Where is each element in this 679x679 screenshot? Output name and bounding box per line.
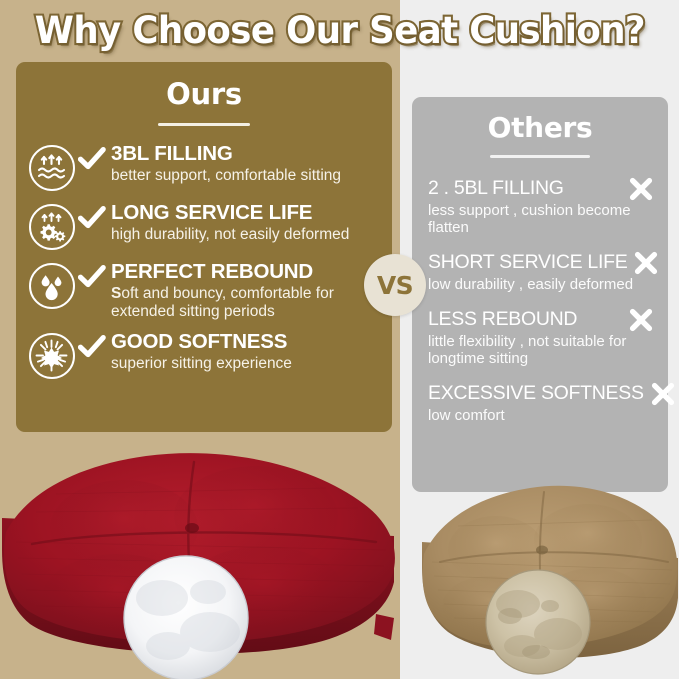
others-cushion-image [418, 470, 679, 679]
ours-cushion-image [0, 432, 406, 679]
gears-durability-icon [29, 204, 75, 250]
vs-badge: VS [364, 254, 426, 316]
ours-feature-row: 3BL FILLING better support, comfortable … [16, 143, 392, 191]
others-feature-title: SHORT SERVICE LIFE [428, 252, 627, 273]
ours-card: Ours [16, 62, 392, 432]
ours-feature-desc: superior sitting experience [111, 355, 384, 373]
others-feature-row: LESS REBOUND little flexibility , not su… [428, 307, 654, 368]
others-feature-headline: EXCESSIVE SOFTNESS [428, 381, 654, 407]
others-feature-title: LESS REBOUND [428, 309, 577, 330]
ours-feature-text: PERFECT REBOUND Soft and bouncy, comfort… [109, 261, 384, 320]
others-feature-desc: low durability , easily deformed [428, 277, 654, 294]
check-icon [75, 265, 109, 289]
ours-feature-desc-lead: S [111, 285, 121, 302]
ours-feature-title: 3BL FILLING [111, 143, 384, 166]
ours-feature-title: PERFECT REBOUND [111, 261, 384, 284]
check-icon [75, 147, 109, 171]
ours-feature-desc-rest: oft and bouncy, comfortable for extended… [111, 285, 334, 320]
others-feature-headline: LESS REBOUND [428, 307, 654, 333]
others-feature-title: EXCESSIVE SOFTNESS [428, 383, 644, 404]
ours-feature-row: GOOD SOFTNESS superior sitting experienc… [16, 331, 392, 379]
ours-feature-row: LONG SERVICE LIFE high durability, not e… [16, 202, 392, 250]
filling-waves-icon [29, 145, 75, 191]
others-feature-headline: 2 . 5BL FILLING [428, 176, 654, 202]
others-feature-row: EXCESSIVE SOFTNESS low comfort [428, 381, 654, 425]
others-feature-list: 2 . 5BL FILLING less support , cushion b… [412, 176, 668, 425]
others-feature-desc: low comfort [428, 408, 654, 425]
ours-heading: Ours [16, 77, 392, 111]
ours-feature-desc: Soft and bouncy, comfortable for extende… [111, 285, 384, 320]
water-droplets-icon [29, 263, 75, 309]
others-feature-row: SHORT SERVICE LIFE low durability , easi… [428, 250, 654, 294]
x-mark-icon [650, 381, 676, 407]
ours-feature-text: GOOD SOFTNESS superior sitting experienc… [109, 331, 384, 373]
x-mark-icon [628, 307, 654, 333]
ours-feature-desc: better support, comfortable sitting [111, 167, 384, 185]
vs-label: VS [377, 271, 413, 300]
check-icon [75, 335, 109, 359]
ours-feature-row: PERFECT REBOUND Soft and bouncy, comfort… [16, 261, 392, 320]
others-feature-row: 2 . 5BL FILLING less support , cushion b… [428, 176, 654, 237]
others-card: Others 2 . 5BL FILLING less support , cu… [412, 97, 668, 492]
ours-feature-text: LONG SERVICE LIFE high durability, not e… [109, 202, 384, 244]
ours-feature-text: 3BL FILLING better support, comfortable … [109, 143, 384, 185]
others-feature-title: 2 . 5BL FILLING [428, 178, 564, 199]
ours-feature-list: 3BL FILLING better support, comfortable … [16, 143, 392, 379]
others-feature-desc: less support , cushion become flatten [428, 203, 654, 237]
ours-heading-divider [158, 123, 250, 126]
others-feature-desc: little flexibility , not suitable for lo… [428, 334, 654, 368]
check-icon [75, 206, 109, 230]
ours-feature-desc: high durability, not easily deformed [111, 226, 384, 244]
others-feature-headline: SHORT SERVICE LIFE [428, 250, 654, 276]
x-mark-icon [628, 176, 654, 202]
sun-burst-icon [29, 333, 75, 379]
others-heading: Others [412, 111, 668, 144]
others-heading-divider [490, 155, 590, 158]
x-mark-icon [633, 250, 659, 276]
infographic-stage: Why Choose Our Seat Cushion? Ours [0, 0, 679, 679]
ours-feature-title: LONG SERVICE LIFE [111, 202, 384, 225]
ours-feature-title: GOOD SOFTNESS [111, 331, 384, 354]
